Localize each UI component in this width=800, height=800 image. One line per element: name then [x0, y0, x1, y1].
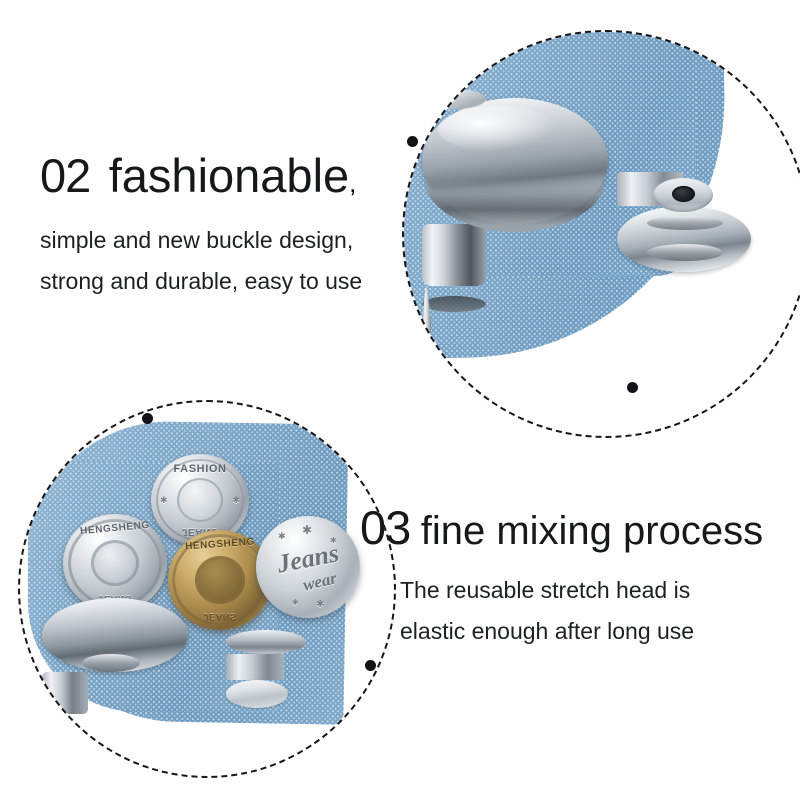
dashed-circle-bottom	[18, 400, 396, 778]
section-02-text: 02 fashionable, simple and new buckle de…	[40, 148, 400, 295]
infographic-canvas: 02 fashionable, simple and new buckle de…	[0, 0, 800, 800]
section-03-line-2: elastic enough after long use	[400, 618, 800, 645]
accent-dot-bottom-top	[142, 413, 153, 424]
accent-dot-top-left	[407, 136, 418, 147]
section-02-line-2: strong and durable, easy to use	[40, 268, 400, 295]
section-03-number: 03	[360, 501, 410, 554]
section-02-heading: fashionable	[109, 149, 349, 202]
section-03-line-1: The reusable stretch head is	[400, 577, 800, 604]
accent-dot-bottom-right	[365, 660, 376, 671]
section-02-line-1: simple and new buckle design,	[40, 227, 400, 254]
section-02-heading-comma: ,	[349, 168, 356, 198]
section-02-number: 02	[40, 149, 90, 202]
tack-plate-needle	[42, 714, 49, 758]
section-03-text: 03 fine mixing process The reusable stre…	[360, 500, 800, 645]
accent-dot-top-bottom	[627, 382, 638, 393]
dashed-circle-top	[402, 30, 800, 438]
section-03-heading: fine mixing process	[421, 509, 763, 553]
